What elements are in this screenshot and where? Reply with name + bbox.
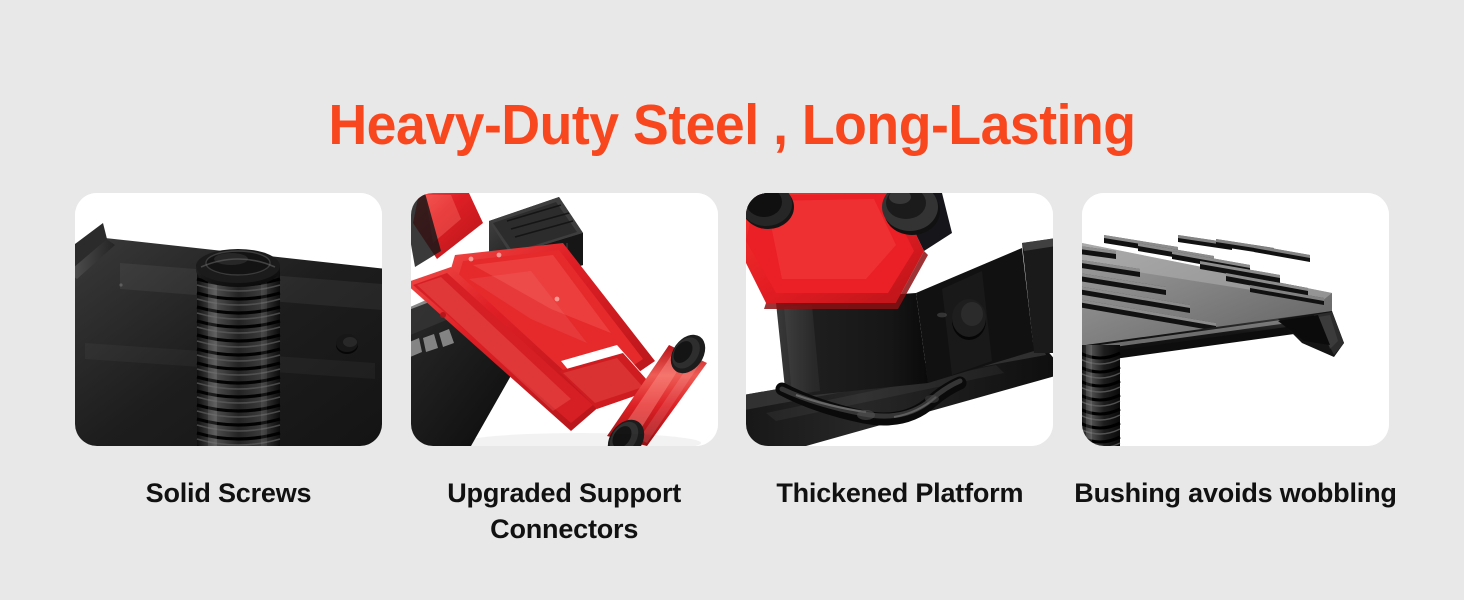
feature-caption: Solid Screws <box>64 476 394 512</box>
feature-caption: Bushing avoids wobbling <box>1070 476 1400 512</box>
bushing-platform-illustration <box>1082 193 1389 446</box>
page-title: Heavy-Duty Steel , Long-Lasting <box>44 92 1420 158</box>
product-feature-banner: Heavy-Duty Steel , Long-Lasting <box>0 0 1464 600</box>
feature-item-solid-screws: Solid Screws <box>75 193 382 548</box>
feature-caption: Thickened Platform <box>735 476 1065 512</box>
feature-list: Solid Screws <box>75 193 1389 548</box>
solid-screw-photo <box>75 193 382 446</box>
feature-item-support-connectors: Upgraded Support Connectors <box>411 193 718 548</box>
support-connector-illustration <box>411 193 718 446</box>
feature-caption: Upgraded Support Connectors <box>399 476 729 548</box>
feature-item-bushing: Bushing avoids wobbling <box>1082 193 1389 548</box>
thickened-platform-photo <box>746 193 1053 446</box>
feature-item-thickened-platform: Thickened Platform <box>746 193 1053 548</box>
thickened-platform-illustration <box>746 193 1053 446</box>
support-connector-photo <box>411 193 718 446</box>
solid-screw-illustration <box>75 193 382 446</box>
bushing-platform-photo <box>1082 193 1389 446</box>
